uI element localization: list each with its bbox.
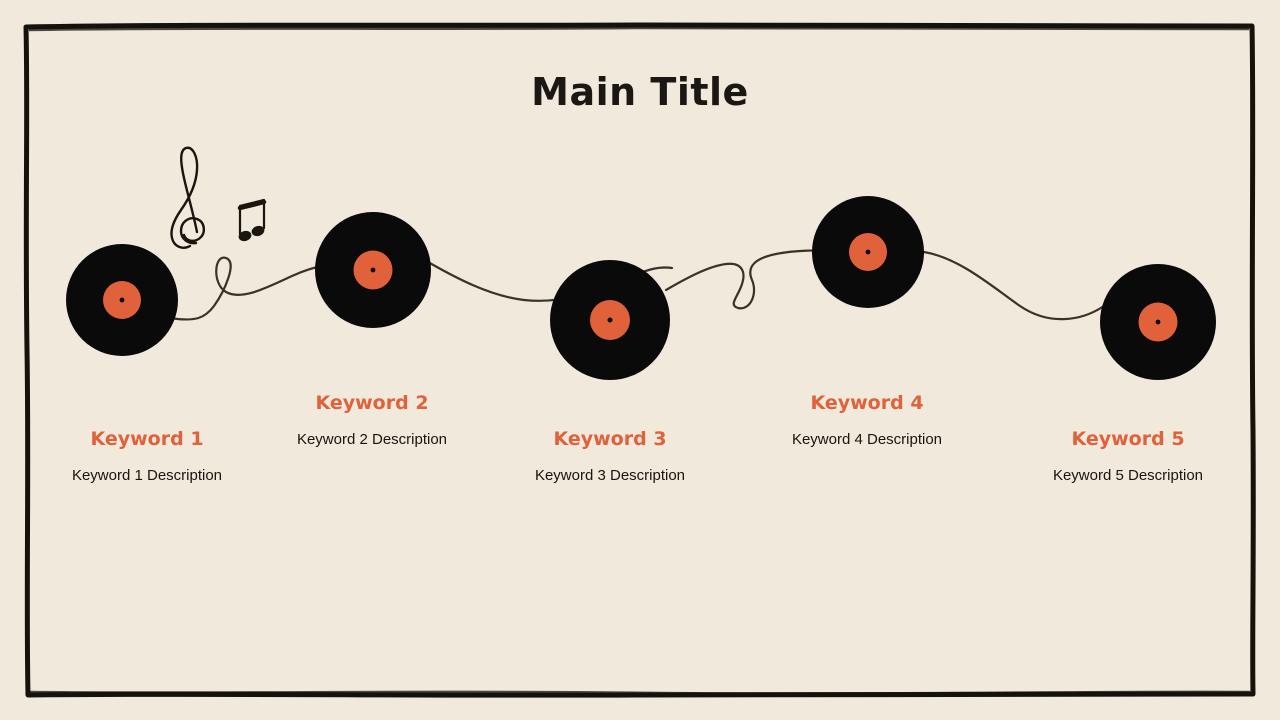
keyword-1-description: Keyword 1 Description xyxy=(72,467,222,484)
vinyl-record-4[interactable] xyxy=(812,196,924,308)
keyword-4-title: Keyword 4 xyxy=(792,392,942,414)
beamed-eighth-notes-icon xyxy=(237,200,265,243)
keyword-2-title: Keyword 2 xyxy=(297,392,447,414)
keyword-2-description: Keyword 2 Description xyxy=(297,431,447,448)
node-label-4[interactable]: Keyword 4 Keyword 4 Description xyxy=(792,392,942,448)
keyword-5-title: Keyword 5 xyxy=(1053,428,1203,450)
vinyl-record-1[interactable] xyxy=(66,244,178,356)
node-label-1[interactable]: Keyword 1 Keyword 1 Description xyxy=(72,428,222,484)
vinyl-record-3[interactable] xyxy=(550,260,670,380)
treble-clef-icon xyxy=(171,148,203,248)
node-label-2[interactable]: Keyword 2 Keyword 2 Description xyxy=(297,392,447,448)
keyword-1-title: Keyword 1 xyxy=(72,428,222,450)
keyword-5-description: Keyword 5 Description xyxy=(1053,467,1203,484)
slide-canvas: Main Title xyxy=(0,0,1280,720)
vinyl-record-2[interactable] xyxy=(315,212,431,328)
keyword-3-title: Keyword 3 xyxy=(535,428,685,450)
keyword-3-description: Keyword 3 Description xyxy=(535,467,685,484)
node-label-3[interactable]: Keyword 3 Keyword 3 Description xyxy=(535,428,685,484)
node-label-5[interactable]: Keyword 5 Keyword 5 Description xyxy=(1053,428,1203,484)
vinyl-timeline-graphic xyxy=(0,0,1280,720)
vinyl-record-5[interactable] xyxy=(1100,264,1216,380)
keyword-4-description: Keyword 4 Description xyxy=(792,431,942,448)
